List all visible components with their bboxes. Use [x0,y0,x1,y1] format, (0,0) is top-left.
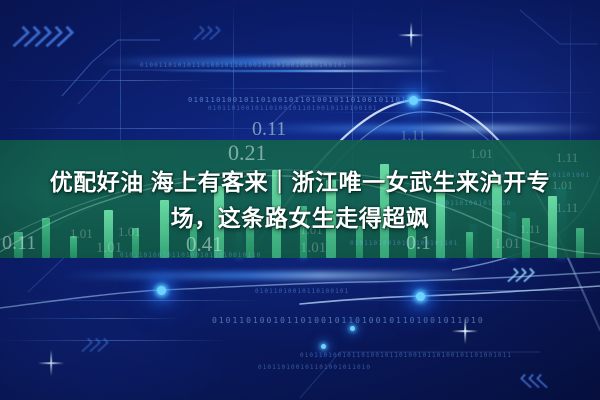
binary-digits: 0101101001011010010110100101101001011010 [212,316,485,325]
overlay-number: 1.01 [300,240,326,257]
binary-digits: 0100110101011010010110100101101001011010… [140,62,347,69]
curve-glow-point-top [409,96,418,105]
chevron-arrows-bottom-left-icon [82,338,105,352]
binary-digits: 010110100101101001011010 [258,364,371,371]
overlay-number: 0.11 [252,118,286,141]
headline-line-1: 优配好油 海上有客来｜浙江唯一女武生来沪开专 [0,164,600,200]
overlay-number: 1.01 [470,146,493,162]
overlay-number: 1.01 [96,240,122,257]
overlay-number: 0.21 [228,140,267,166]
banner-image: 0.110.211.111.010.111.011.011.010.411.01… [0,0,600,400]
glow-dot-small-b [321,344,326,349]
binary-digits: 01011010010110100101101 [350,240,458,247]
headline: 优配好油 海上有客来｜浙江唯一女武生来沪开专 场，这条路女生走得超飒 [0,164,600,236]
overlay-number: 1.01 [494,236,520,253]
binary-digits: 0101101001011010010110100101101001011010… [300,352,512,359]
curve-glow-point-right [416,292,425,301]
curve-glow-point-left [157,286,166,295]
chevron-arrows-top-mid-icon [194,26,217,40]
chevron-arrows-mid-right-icon [508,268,531,282]
binary-digits: 01011010010110100101 [255,288,349,295]
binary-digits: 0101101001011010010110100101101001011010 [188,96,413,104]
glow-dot-small-a [350,326,355,331]
binary-digits: 010110100101101001011010010110100101 [208,105,378,112]
overlay-number: 1.11 [400,128,426,145]
chevron-arrows-bottom-right-icon [524,374,547,388]
chevron-arrows-top-left-icon [14,26,68,47]
binary-digits: 010110100101101001011010010110 [120,252,261,259]
headline-line-2: 场，这条路女生走得超飒 [0,200,600,236]
